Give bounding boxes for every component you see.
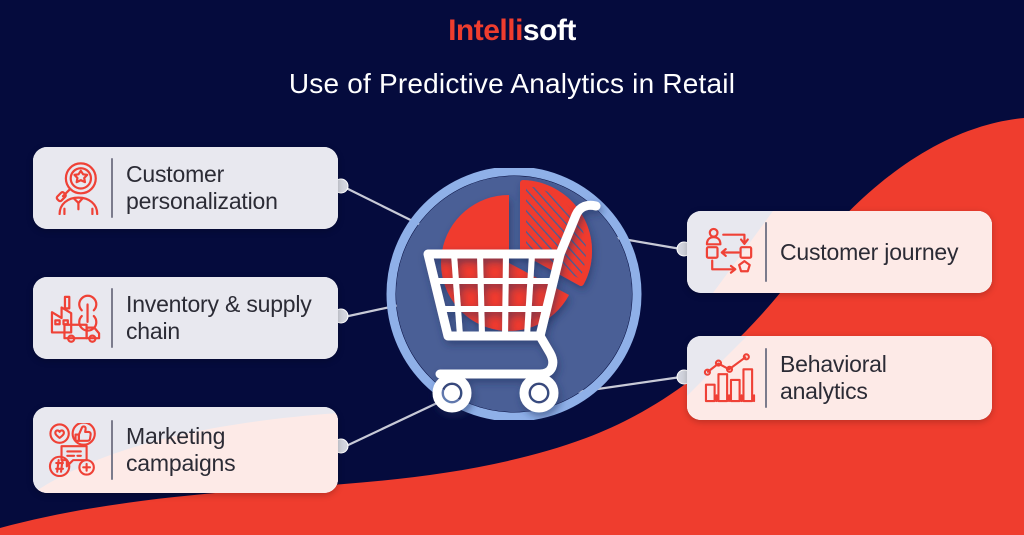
cart-wheel-left-hub [449,390,456,397]
card-label-inventory-supply-chain: Inventory & supply chain [126,291,324,344]
heart-thumbsup-chat-hashtag-icon [45,421,107,479]
magnifier-star-person-icon [45,159,107,217]
logo-text-primary: Intelli [448,14,523,47]
card-label-customer-personalization: Customer personalization [126,161,324,214]
brand-logo: Intellisoft [0,16,1024,46]
card-divider [111,158,113,218]
flowchart-person-arrows-star-icon [699,223,761,281]
card-divider [111,420,113,480]
logo-text-secondary: soft [523,14,576,47]
card-inventory-supply-chain[interactable]: Inventory & supply chain [33,277,338,359]
central-illustration [364,168,664,420]
card-divider [765,348,767,408]
card-label-customer-journey: Customer journey [780,239,978,266]
factory-truck-chain-icon [45,289,107,347]
card-label-marketing-campaigns: Marketing campaigns [126,423,324,476]
card-label-behavioral-analytics: Behavioral analytics [780,351,978,404]
card-marketing-campaigns[interactable]: Marketing campaigns [33,407,338,493]
card-customer-personalization[interactable]: Customer personalization [33,147,338,229]
card-divider [765,222,767,282]
cart-wheel-right-hub [536,390,543,397]
card-behavioral-analytics[interactable]: Behavioral analytics [687,336,992,420]
card-customer-journey[interactable]: Customer journey [687,211,992,293]
page-title: Use of Predictive Analytics in Retail [0,68,1024,100]
infographic-canvas: Intellisoft Use of Predictive Analytics … [0,0,1024,535]
card-divider [111,288,113,348]
bar-chart-line-graph-icon [699,349,761,407]
